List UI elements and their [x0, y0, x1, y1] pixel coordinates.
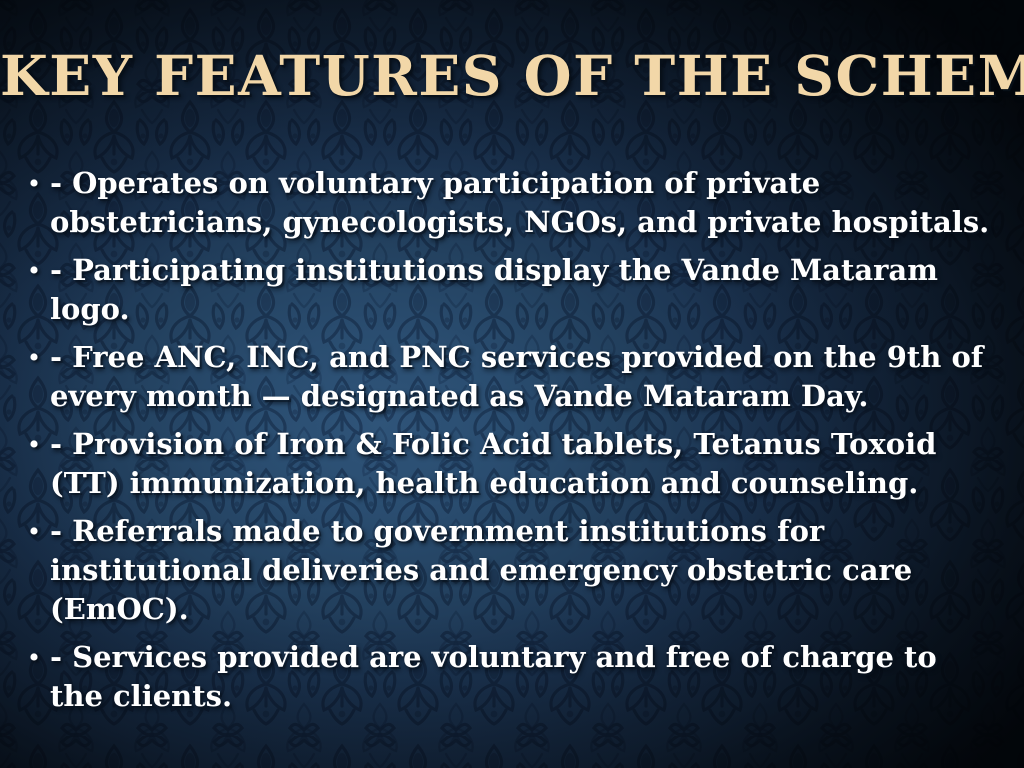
bullet-dot-icon: •	[18, 638, 50, 677]
list-item-text: - Referrals made to government instituti…	[50, 512, 998, 629]
list-item: • - Provision of Iron & Folic Acid table…	[18, 425, 998, 503]
list-item-text: - Services provided are voluntary and fr…	[50, 638, 998, 716]
bullet-dot-icon: •	[18, 251, 50, 290]
list-item: • - Referrals made to government institu…	[18, 512, 998, 629]
bullet-dot-icon: •	[18, 512, 50, 551]
list-item: • - Services provided are voluntary and …	[18, 638, 998, 716]
list-item-text: - Operates on voluntary participation of…	[50, 164, 998, 242]
list-item: • - Participating institutions display t…	[18, 251, 998, 329]
list-item-text: - Free ANC, INC, and PNC services provid…	[50, 338, 998, 416]
bullet-dot-icon: •	[18, 338, 50, 377]
bullet-list: • - Operates on voluntary participation …	[18, 164, 998, 725]
list-item-text: - Provision of Iron & Folic Acid tablets…	[50, 425, 998, 503]
list-item: • - Operates on voluntary participation …	[18, 164, 998, 242]
list-item: • - Free ANC, INC, and PNC services prov…	[18, 338, 998, 416]
bullet-dot-icon: •	[18, 164, 50, 203]
bullet-dot-icon: •	[18, 425, 50, 464]
slide-title: Key Features of the Scheme	[0, 46, 1024, 106]
presentation-slide: Key Features of the Scheme • - Operates …	[0, 0, 1024, 768]
list-item-text: - Participating institutions display the…	[50, 251, 998, 329]
